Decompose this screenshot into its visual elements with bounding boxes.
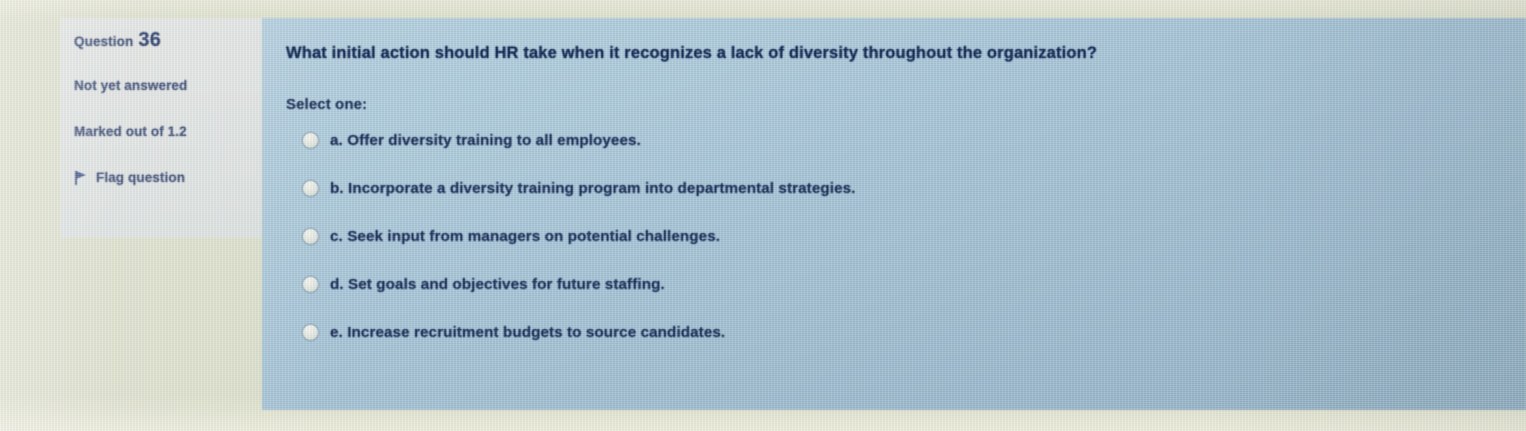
answer-label-b: b. Incorporate a diversity training prog… <box>330 180 856 197</box>
answer-label-e: e. Increase recruitment budgets to sourc… <box>330 324 725 341</box>
flag-question-button[interactable]: Flag question <box>74 169 262 186</box>
radio-button-b[interactable] <box>302 180 319 197</box>
answer-option-d[interactable]: d. Set goals and objectives for future s… <box>302 271 1526 297</box>
radio-button-e[interactable] <box>302 324 319 341</box>
radio-button-a[interactable] <box>302 132 319 149</box>
radio-button-d[interactable] <box>302 276 319 293</box>
question-marks: Marked out of 1.2 <box>74 123 262 140</box>
question-number-label: Question <box>74 34 133 49</box>
question-content-panel: What initial action should HR take when … <box>262 18 1526 410</box>
question-number-value: 36 <box>138 29 161 51</box>
answer-label-c: c. Seek input from managers on potential… <box>330 228 720 245</box>
quiz-question-block: Question36 Not yet answered Marked out o… <box>0 18 1526 410</box>
answer-option-c[interactable]: c. Seek input from managers on potential… <box>302 223 1526 249</box>
flag-question-label: Flag question <box>96 169 185 186</box>
question-text: What initial action should HR take when … <box>286 42 1526 64</box>
answer-section: Select one: a. Offer diversity training … <box>284 96 1526 345</box>
question-status: Not yet answered <box>74 77 262 94</box>
question-number: Question36 <box>74 32 262 50</box>
answer-label-d: d. Set goals and objectives for future s… <box>330 276 665 293</box>
answer-option-e[interactable]: e. Increase recruitment budgets to sourc… <box>302 319 1526 345</box>
select-one-label: Select one: <box>286 96 1526 113</box>
radio-button-c[interactable] <box>302 228 319 245</box>
photographed-screen: Question36 Not yet answered Marked out o… <box>0 0 1526 431</box>
flag-icon <box>74 171 87 185</box>
answer-label-a: a. Offer diversity training to all emplo… <box>330 132 641 149</box>
answer-option-a[interactable]: a. Offer diversity training to all emplo… <box>302 127 1526 153</box>
question-info-panel: Question36 Not yet answered Marked out o… <box>60 18 262 238</box>
answer-option-b[interactable]: b. Incorporate a diversity training prog… <box>302 175 1526 201</box>
